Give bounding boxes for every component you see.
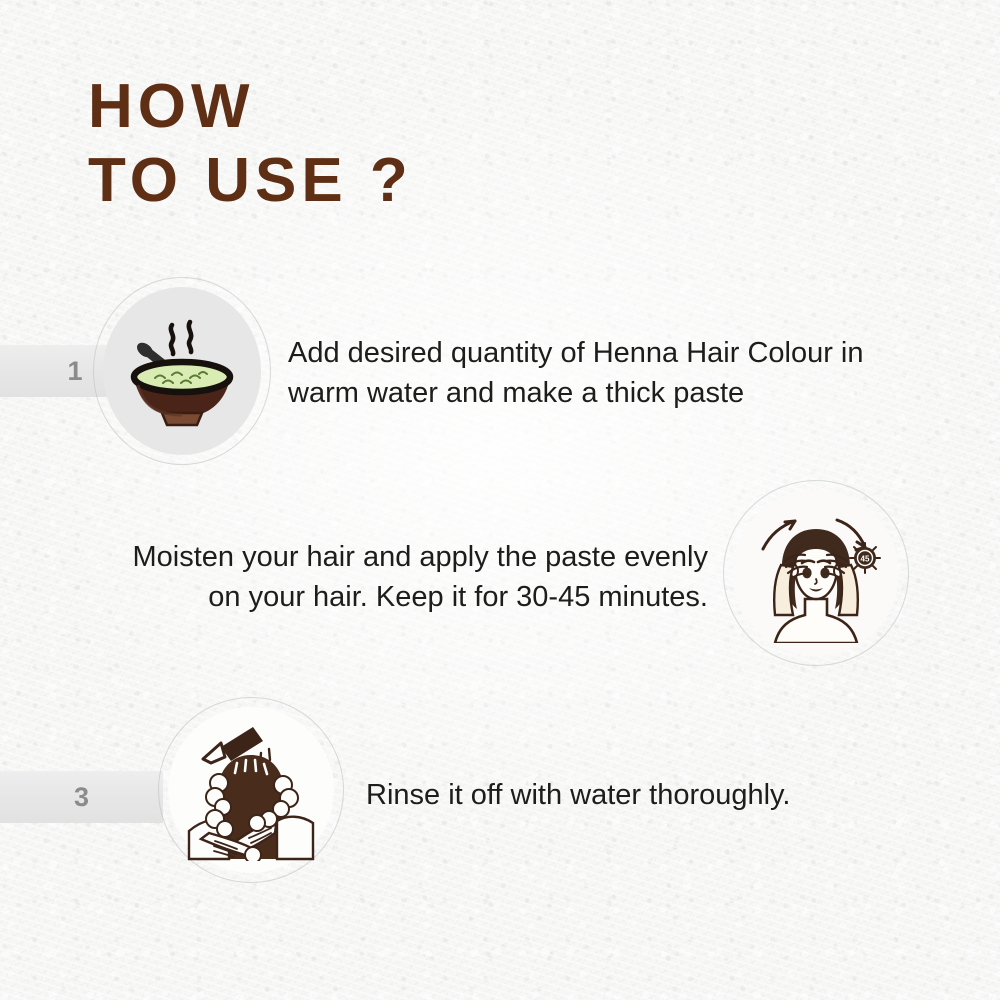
timer-minutes-label: 45 xyxy=(861,555,870,564)
page-title: HOW TO USE ? xyxy=(88,70,413,218)
step-3-text: Rinse it off with water thoroughly. xyxy=(366,775,886,815)
woman-applying-paste-glyph: 45 xyxy=(745,503,887,643)
bowl-of-paste-icon xyxy=(103,287,261,455)
timer-45-badge: 45 xyxy=(850,543,880,573)
page-title-line-2: TO USE ? xyxy=(88,144,413,218)
page-title-line-1: HOW xyxy=(88,70,413,144)
step-2-text: Moisten your hair and apply the paste ev… xyxy=(60,537,708,617)
woman-applying-paste-icon: 45 xyxy=(733,490,899,656)
step-3-number-label: 3 xyxy=(74,784,89,811)
infographic-page: HOW TO USE ? 1 xyxy=(0,0,1000,1000)
bowl-of-paste-glyph xyxy=(122,309,242,433)
rinsing-hair-glyph xyxy=(181,719,321,861)
step-3-number-badge: 3 xyxy=(0,771,163,823)
step-1-number-label: 1 xyxy=(67,358,82,385)
rinsing-hair-icon xyxy=(168,707,334,873)
step-1-text: Add desired quantity of Henna Hair Colou… xyxy=(288,333,888,413)
